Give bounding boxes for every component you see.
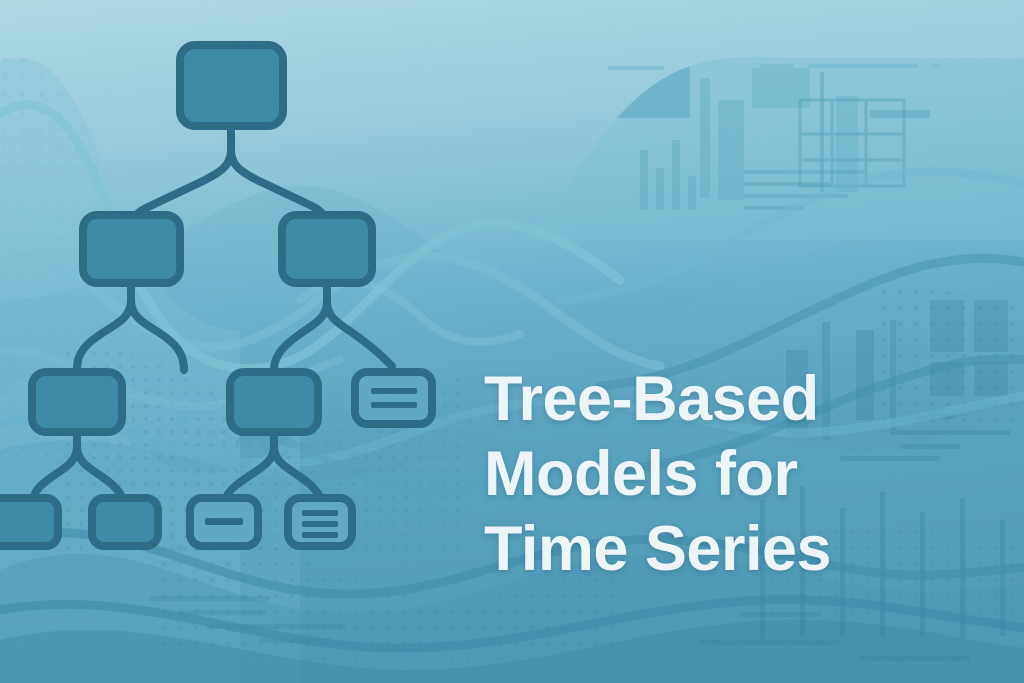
branch-node-right-left [230,372,318,432]
branch-node-left-left [32,372,122,432]
leaf-node-three-lines [288,498,352,546]
leaf-node-clipped [0,498,58,546]
branch-node-right [282,215,372,283]
branch-node-left [83,215,180,283]
leaf-node-one-line [190,498,258,546]
abstract-data-background [0,0,1024,683]
leaf-glyph-lines [302,510,338,538]
leaf-glyph-lines [205,518,243,525]
leaf-node-plain [92,498,158,546]
root-node [180,45,283,126]
leaf-node-two-lines [355,372,432,424]
hero-banner: Tree-Based Models for Time Series [0,0,1024,683]
